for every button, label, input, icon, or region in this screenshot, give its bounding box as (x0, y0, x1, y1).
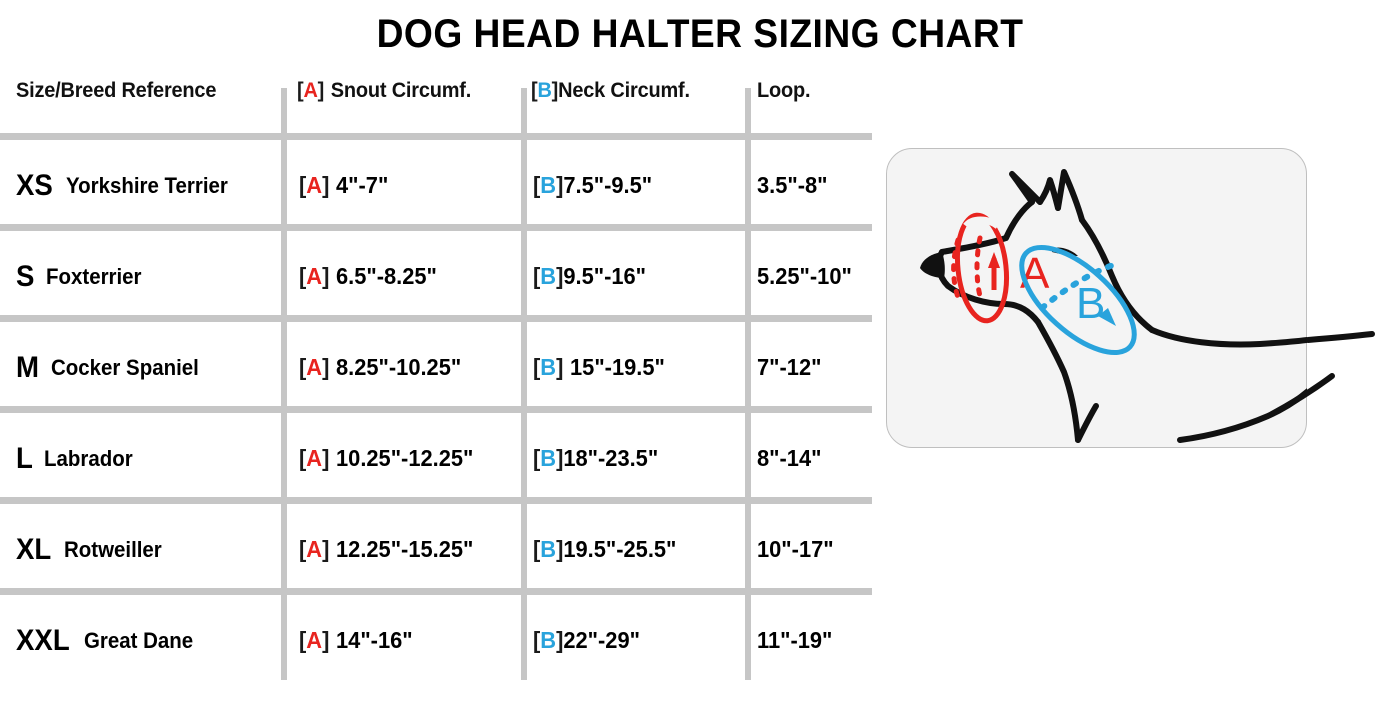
size-label: S (16, 260, 34, 294)
cell-loop: 5.25"-10" (745, 231, 875, 322)
size-label: XL (16, 533, 51, 567)
snout-range: 6.5"-8.25" (336, 263, 437, 289)
cell-snout: [A]12.25"-15.25" (281, 504, 521, 595)
cell-size-breed: XL Rotweiller (0, 504, 281, 595)
cell-snout: [A]8.25"-10.25" (281, 322, 521, 413)
loop-range: 10"-17" (757, 536, 834, 563)
breed-label: Rotweiller (64, 537, 162, 563)
cell-neck: [B]9.5"-16" (521, 231, 745, 322)
cell-neck: [B]15"-19.5" (521, 322, 745, 413)
dog-outline (939, 172, 1320, 440)
snout-range: 4"-7" (336, 172, 388, 198)
neck-value: [B]15"-19.5" (533, 354, 665, 381)
snout-range: 14"-16" (336, 627, 413, 653)
breed-label: Foxterrier (46, 264, 142, 290)
cell-snout: [A]14"-16" (281, 595, 521, 686)
snout-value: [A]12.25"-15.25" (299, 536, 473, 563)
size-label: M (16, 351, 39, 385)
header-cell-neck: [B]Neck Circumf. (521, 45, 745, 136)
label-b: B (1076, 279, 1105, 328)
table-row: L Labrador [A]10.25"-12.25" [B]18"-23.5"… (0, 413, 875, 504)
neck-value: [B]9.5"-16" (533, 263, 646, 290)
size-label: XXL (16, 624, 70, 658)
cell-snout: [A]6.5"-8.25" (281, 231, 521, 322)
breed-label: Labrador (44, 446, 133, 472)
dog-back-line-overflow (1308, 334, 1372, 340)
cell-loop: 8"-14" (745, 413, 875, 504)
cell-neck: [B]7.5"-9.5" (521, 140, 745, 231)
breed-label: Great Dane (84, 628, 193, 654)
loop-range: 7"-12" (757, 354, 821, 381)
neck-range: 22"-29" (563, 627, 640, 653)
cell-snout: [A]10.25"-12.25" (281, 413, 521, 504)
snout-measure-ring-a (953, 213, 1012, 323)
loop-range: 11"-19" (757, 627, 832, 654)
header-cell-size-breed: Size/Breed Reference (0, 45, 281, 136)
neck-value: [B]22"-29" (533, 627, 640, 654)
neck-range: 18"-23.5" (563, 445, 658, 471)
table-header-row: Size/Breed Reference [A]Snout Circumf. [… (0, 45, 875, 136)
header-label-neck: [B]Neck Circumf. (531, 79, 690, 103)
cell-size-breed: XXL Great Dane (0, 595, 281, 686)
size-label: L (16, 442, 33, 476)
neck-value: [B]19.5"-25.5" (533, 536, 676, 563)
sizing-chart-page: DOG HEAD HALTER SIZING CHART Size/Breed … (0, 0, 1400, 715)
snout-value: [A]6.5"-8.25" (299, 263, 437, 290)
neck-value: [B]18"-23.5" (533, 445, 658, 472)
neck-range: 9.5"-16" (563, 263, 646, 289)
neck-range: 19.5"-25.5" (563, 536, 676, 562)
cell-size-breed: M Cocker Spaniel (0, 322, 281, 413)
snout-value: [A]14"-16" (299, 627, 413, 654)
bracket-close-a: ] (318, 79, 324, 102)
table-row: M Cocker Spaniel [A]8.25"-10.25" [B]15"-… (0, 322, 875, 413)
snout-range: 10.25"-12.25" (336, 445, 473, 471)
snout-range: 12.25"-15.25" (336, 536, 473, 562)
cell-neck: [B]22"-29" (521, 595, 745, 686)
table-row: XS Yorkshire Terrier [A]4"-7" [B]7.5"-9.… (0, 140, 875, 231)
loop-range: 8"-14" (757, 445, 821, 472)
sizing-table: Size/Breed Reference [A]Snout Circumf. [… (0, 85, 875, 685)
breed-label: Yorkshire Terrier (66, 173, 228, 199)
cell-loop: 3.5"-8" (745, 140, 875, 231)
snout-value: [A]8.25"-10.25" (299, 354, 461, 381)
header-cell-snout: [A]Snout Circumf. (281, 45, 521, 136)
snout-value: [A]10.25"-12.25" (299, 445, 473, 472)
header-cell-loop: Loop. (745, 45, 875, 136)
table-row: XL Rotweiller [A]12.25"-15.25" [B]19.5"-… (0, 504, 875, 595)
cell-loop: 10"-17" (745, 504, 875, 595)
cell-size-breed: L Labrador (0, 413, 281, 504)
cell-loop: 11"-19" (745, 595, 875, 686)
loop-range: 5.25"-10" (757, 263, 852, 290)
cell-size-breed: XS Yorkshire Terrier (0, 140, 281, 231)
dog-rear-line-overflow (1272, 376, 1332, 414)
loop-range: 3.5"-8" (757, 172, 828, 199)
neck-range: 7.5"-9.5" (563, 172, 652, 198)
tag-a-icon: A (303, 79, 317, 102)
header-text-snout: Snout Circumf. (331, 79, 471, 102)
dog-measurement-illustration: A B (880, 140, 1400, 460)
cell-neck: [B]18"-23.5" (521, 413, 745, 504)
neck-value: [B]7.5"-9.5" (533, 172, 652, 199)
cell-neck: [B]19.5"-25.5" (521, 504, 745, 595)
row-separator (0, 133, 872, 140)
header-label-loop: Loop. (757, 79, 810, 103)
header-label-snout: [A]Snout Circumf. (297, 79, 471, 103)
snout-range: 8.25"-10.25" (336, 354, 461, 380)
size-label: XS (16, 169, 53, 203)
snout-value: [A]4"-7" (299, 172, 388, 199)
table-row: S Foxterrier [A]6.5"-8.25" [B]9.5"-16" 5… (0, 231, 875, 322)
cell-size-breed: S Foxterrier (0, 231, 281, 322)
neck-range: 15"-19.5" (570, 354, 665, 380)
header-text-neck: Neck Circumf. (558, 79, 690, 102)
header-label-size-breed: Size/Breed Reference (16, 79, 216, 103)
breed-label: Cocker Spaniel (51, 355, 199, 381)
cell-loop: 7"-12" (745, 322, 875, 413)
cell-snout: [A]4"-7" (281, 140, 521, 231)
tag-b-icon: B (537, 79, 551, 102)
table-row: XXL Great Dane [A]14"-16" [B]22"-29" 11"… (0, 595, 875, 686)
dog-nose (920, 252, 945, 278)
